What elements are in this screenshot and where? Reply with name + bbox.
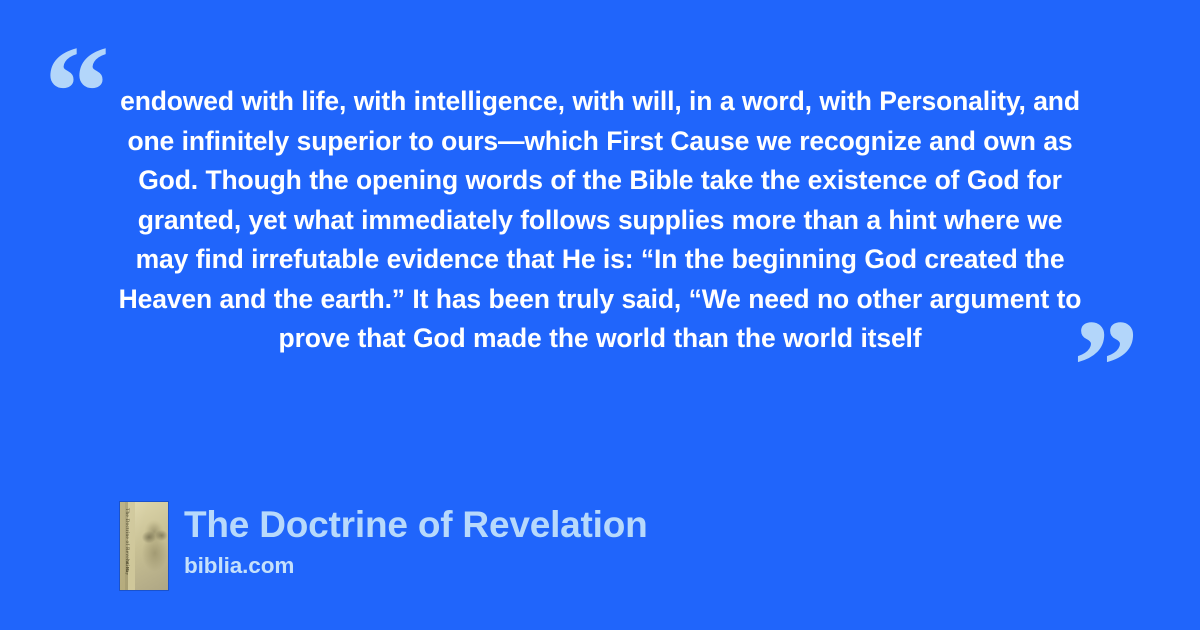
book-cover-thumbnail-icon[interactable]: The Doctrine of Revelation W. Hay [120,502,168,590]
closing-quote-icon: ” [1073,300,1139,432]
site-name[interactable]: biblia.com [184,553,648,579]
attribution[interactable]: The Doctrine of Revelation W. Hay The Do… [120,502,648,590]
book-cover-portrait [135,502,168,590]
quote-card: “ endowed with life, with intelligence, … [0,0,1200,630]
quote-body: endowed with life, with intelligence, wi… [110,82,1090,359]
book-title[interactable]: The Doctrine of Revelation [184,503,648,547]
opening-quote-icon: “ [44,26,110,158]
book-cover-author-text: W. Hay [124,560,129,590]
quote-text: endowed with life, with intelligence, wi… [110,82,1090,359]
attribution-text: The Doctrine of Revelation biblia.com [184,502,648,579]
